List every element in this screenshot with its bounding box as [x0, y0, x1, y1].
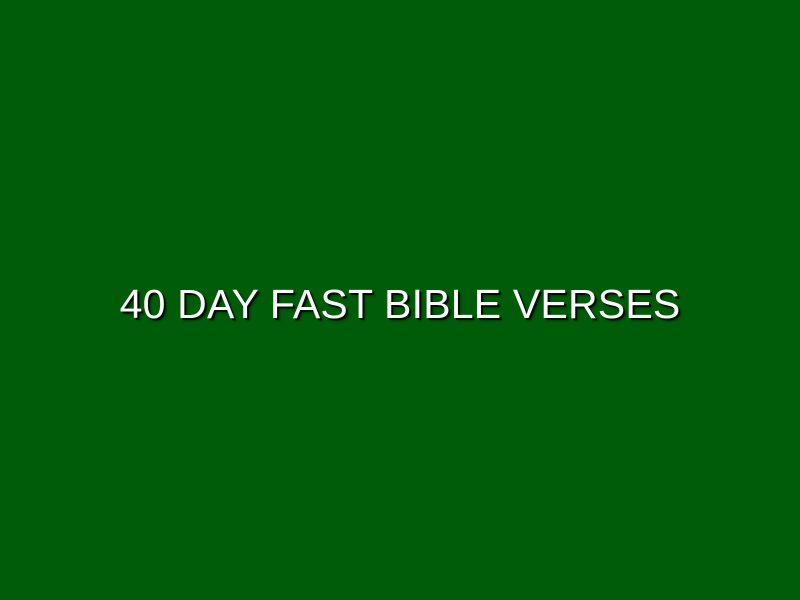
page-title: 40 DAY FAST BIBLE VERSES [0, 0, 800, 600]
banner-canvas: 40 DAY FAST BIBLE VERSES [0, 0, 800, 600]
